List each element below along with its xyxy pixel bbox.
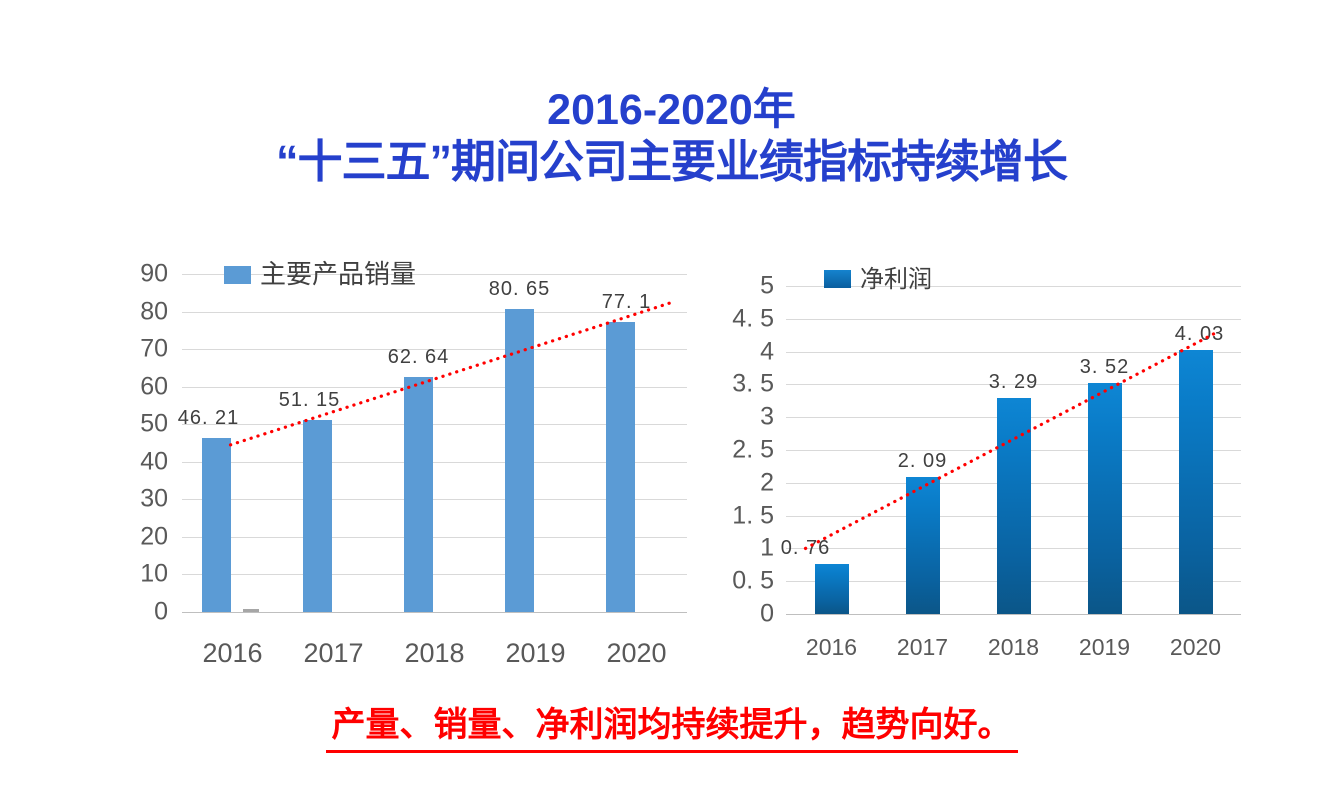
- y-axis-tick-label: 90: [116, 262, 168, 287]
- bar-value-label: 46. 21: [178, 408, 240, 428]
- x-axis-category-label: 2016: [202, 640, 262, 667]
- bar-value-label: 77. 1: [602, 292, 651, 312]
- net-profit-chart: 54. 543. 532. 521. 510. 500. 762. 093. 2…: [712, 252, 1257, 662]
- legend-swatch-icon: [224, 266, 251, 284]
- y-axis-tick-label: 20: [116, 524, 168, 549]
- page-title-line-1: 2016-2020年: [0, 86, 1343, 136]
- y-axis-tick-label: 10: [116, 562, 168, 587]
- x-axis-category-label: 2016: [806, 636, 857, 659]
- bar: [404, 377, 433, 612]
- y-axis-tick-label: 1. 5: [716, 503, 774, 528]
- gridline: [786, 319, 1241, 320]
- legend-label: 主要产品销量: [260, 262, 416, 288]
- net-profit-legend: 净利润: [824, 267, 932, 291]
- bar-value-label: 3. 29: [989, 372, 1038, 392]
- y-axis-tick-label: 1: [716, 536, 774, 561]
- x-axis-category-label: 2020: [1170, 636, 1221, 659]
- x-axis-category-label: 2018: [988, 636, 1039, 659]
- gridline: [786, 352, 1241, 353]
- sales-volume-plot-area: 908070605040302010046. 2151. 1562. 6480.…: [124, 252, 694, 662]
- legend-swatch-icon: [824, 270, 851, 288]
- legend-label: 净利润: [860, 267, 932, 291]
- bar: [303, 420, 332, 612]
- y-axis-tick-label: 4. 5: [716, 306, 774, 331]
- y-axis-tick-label: 0: [116, 600, 168, 625]
- y-axis-tick-label: 0: [716, 602, 774, 627]
- y-axis-tick-label: 5: [716, 274, 774, 299]
- y-axis-tick-label: 2. 5: [716, 438, 774, 463]
- bar-value-label: 3. 52: [1080, 357, 1129, 377]
- page-title-line-2: “十三五”期间公司主要业绩指标持续增长: [0, 136, 1343, 188]
- y-axis-tick-label: 4: [716, 339, 774, 364]
- bar: [1179, 350, 1213, 614]
- bar-value-label: 51. 15: [279, 390, 341, 410]
- y-axis-tick-label: 2: [716, 470, 774, 495]
- y-axis-tick-label: 3. 5: [716, 372, 774, 397]
- gridline: [786, 614, 1241, 615]
- bar: [243, 609, 259, 612]
- page-title: 2016-2020年 “十三五”期间公司主要业绩指标持续增长: [0, 86, 1343, 188]
- y-axis-tick-label: 30: [116, 487, 168, 512]
- x-axis-category-label: 2019: [505, 640, 565, 667]
- sales-volume-chart: 908070605040302010046. 2151. 1562. 6480.…: [124, 252, 694, 662]
- x-axis-category-label: 2020: [606, 640, 666, 667]
- y-axis-tick-label: 80: [116, 299, 168, 324]
- summary-caption: 产量、销量、净利润均持续提升，趋势向好。: [0, 697, 1343, 753]
- bar: [815, 564, 849, 614]
- y-axis-tick-label: 0. 5: [716, 569, 774, 594]
- gridline: [182, 612, 687, 613]
- x-axis-category-label: 2018: [404, 640, 464, 667]
- bar: [997, 398, 1031, 614]
- y-axis-tick-label: 70: [116, 337, 168, 362]
- x-axis-category-label: 2017: [303, 640, 363, 667]
- summary-caption-text: 产量、销量、净利润均持续提升，趋势向好。: [326, 697, 1018, 753]
- bar: [906, 477, 940, 614]
- y-axis-tick-label: 60: [116, 374, 168, 399]
- bar: [1088, 383, 1122, 614]
- sales-volume-legend: 主要产品销量: [224, 262, 416, 288]
- y-axis-tick-label: 40: [116, 449, 168, 474]
- x-axis-category-label: 2019: [1079, 636, 1130, 659]
- y-axis-tick-label: 3: [716, 405, 774, 430]
- trendline: [712, 252, 1257, 662]
- bar: [606, 322, 635, 612]
- net-profit-plot-area: 54. 543. 532. 521. 510. 500. 762. 093. 2…: [712, 252, 1257, 662]
- bar: [505, 309, 534, 612]
- bar-value-label: 0. 76: [781, 538, 830, 558]
- x-axis-category-label: 2017: [897, 636, 948, 659]
- bar: [202, 438, 231, 612]
- bar-value-label: 4. 03: [1175, 324, 1224, 344]
- bar-value-label: 2. 09: [898, 451, 947, 471]
- bar-value-label: 62. 64: [388, 347, 450, 367]
- y-axis-tick-label: 50: [116, 412, 168, 437]
- bar-value-label: 80. 65: [489, 279, 551, 299]
